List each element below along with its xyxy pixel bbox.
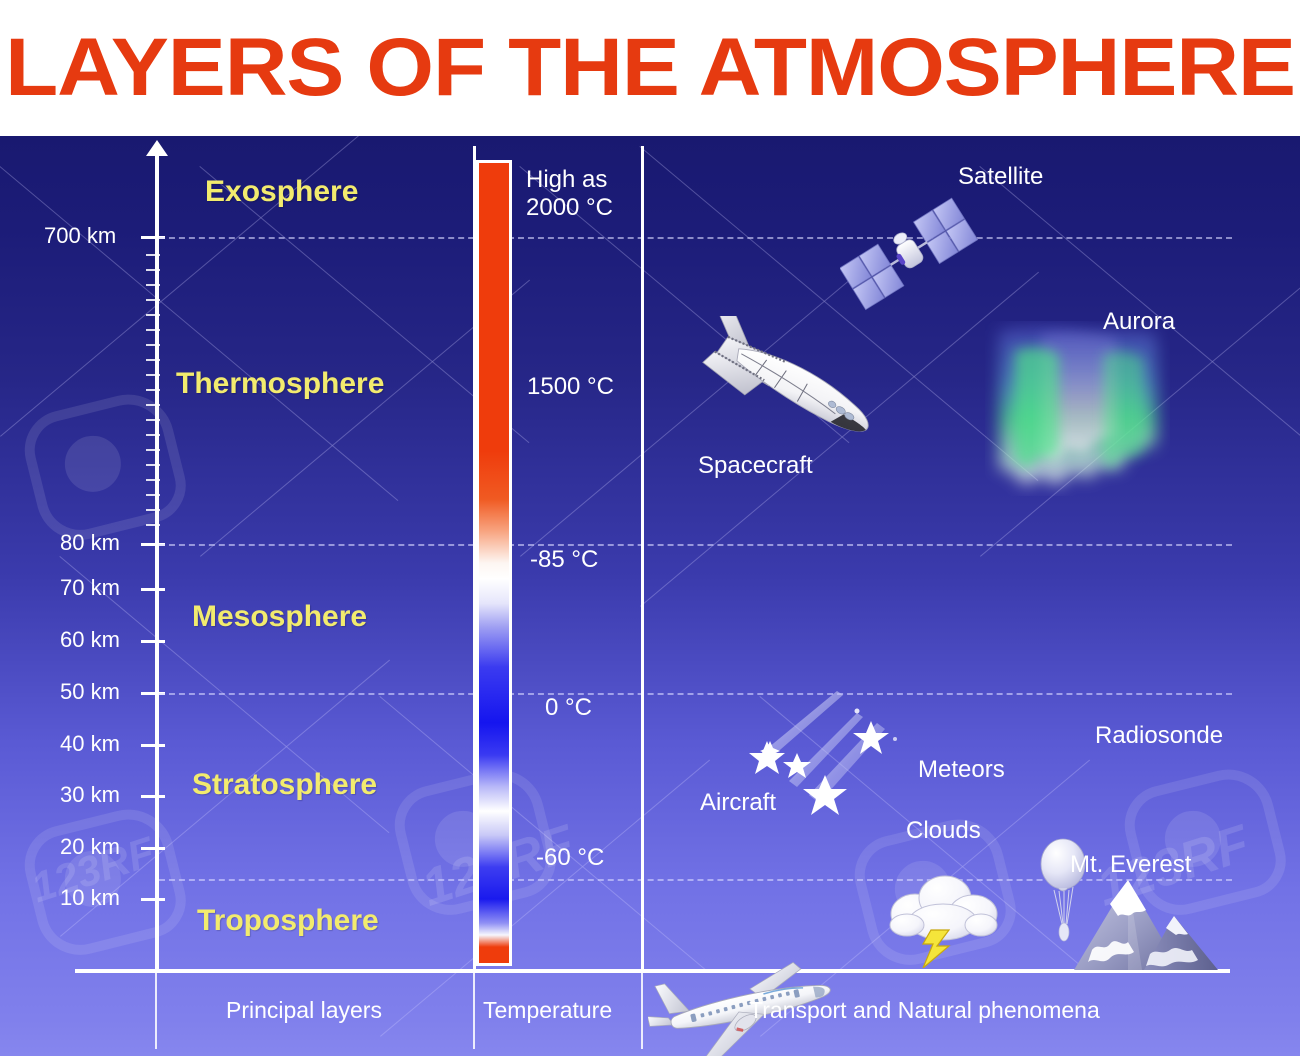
footer-row: Principal layers Temperature Transport a… bbox=[0, 973, 1300, 1056]
axis-tick-label-10: 10 km bbox=[60, 885, 120, 911]
temperature-gradient-bar bbox=[476, 160, 512, 966]
axis-tick-label-50: 50 km bbox=[60, 679, 120, 705]
phenomenon-label-spacecraft: Spacecraft bbox=[698, 452, 813, 480]
axis-tick bbox=[141, 847, 165, 850]
axis-tick-label-60: 60 km bbox=[60, 627, 120, 653]
layer-label-stratosphere: Stratosphere bbox=[192, 768, 377, 802]
axis-tick-label-40: 40 km bbox=[60, 731, 120, 757]
footer-divider-right bbox=[641, 973, 643, 1049]
footer-label-transport: Transport and Natural phenomena bbox=[749, 997, 1100, 1024]
axis-tick-label-700: 700 km bbox=[44, 223, 116, 249]
temp-label-line1: High as bbox=[526, 166, 613, 194]
thundercloud-icon bbox=[885, 868, 1005, 968]
satellite-icon bbox=[840, 191, 980, 321]
phenomenon-label-clouds: Clouds bbox=[906, 817, 981, 845]
phenomenon-label-mt-everest: Mt. Everest bbox=[1070, 851, 1191, 879]
layer-label-thermosphere: Thermosphere bbox=[176, 367, 384, 401]
phenomenon-label-satellite: Satellite bbox=[958, 163, 1043, 191]
footer-divider-axis bbox=[155, 973, 157, 1049]
axis-tick-label-80: 80 km bbox=[60, 530, 120, 556]
page-title: LAYERS OF THE ATMOSPHERE bbox=[5, 21, 1295, 115]
aurora-icon bbox=[985, 321, 1170, 496]
temp-label-neg60: -60 °C bbox=[536, 844, 604, 872]
temp-label-neg85: -85 °C bbox=[530, 546, 598, 574]
layer-boundary-50km bbox=[159, 693, 1232, 695]
temp-label-line2: 2000 °C bbox=[526, 194, 613, 222]
space-shuttle-icon bbox=[690, 316, 900, 456]
layer-label-mesosphere: Mesosphere bbox=[192, 600, 367, 634]
infographic-page: LAYERS OF THE ATMOSPHERE 12 bbox=[0, 0, 1300, 1056]
phenomenon-label-meteors: Meteors bbox=[918, 756, 1005, 784]
phenomenon-label-aircraft: Aircraft bbox=[700, 789, 776, 817]
mountain-icon bbox=[1070, 878, 1220, 973]
footer-label-temperature: Temperature bbox=[483, 997, 612, 1024]
axis-tick bbox=[141, 640, 165, 643]
temp-label-0: 0 °C bbox=[545, 694, 592, 722]
footer-divider-left bbox=[473, 973, 475, 1049]
atmosphere-diagram: 123RF 123RF 123RF bbox=[0, 136, 1300, 1056]
axis-tick-label-70: 70 km bbox=[60, 575, 120, 601]
layer-boundary-700km bbox=[159, 237, 1232, 239]
title-band: LAYERS OF THE ATMOSPHERE bbox=[0, 0, 1300, 136]
temp-label-high-as: High as 2000 °C bbox=[526, 166, 613, 221]
footer-label-principal-layers: Principal layers bbox=[226, 997, 382, 1024]
layer-label-exosphere: Exosphere bbox=[205, 175, 358, 209]
axis-tick bbox=[141, 588, 165, 591]
layer-label-troposphere: Troposphere bbox=[197, 904, 379, 938]
axis-tick bbox=[141, 898, 165, 901]
axis-tick-label-30: 30 km bbox=[60, 782, 120, 808]
axis-tick bbox=[141, 795, 165, 798]
axis-tick bbox=[141, 744, 165, 747]
phenomenon-label-radiosonde: Radiosonde bbox=[1095, 722, 1223, 750]
column-divider-right bbox=[641, 146, 644, 972]
temp-label-1500: 1500 °C bbox=[527, 373, 614, 401]
axis-tick-label-20: 20 km bbox=[60, 834, 120, 860]
layer-boundary-80km bbox=[159, 544, 1232, 546]
phenomenon-label-aurora: Aurora bbox=[1103, 308, 1175, 336]
